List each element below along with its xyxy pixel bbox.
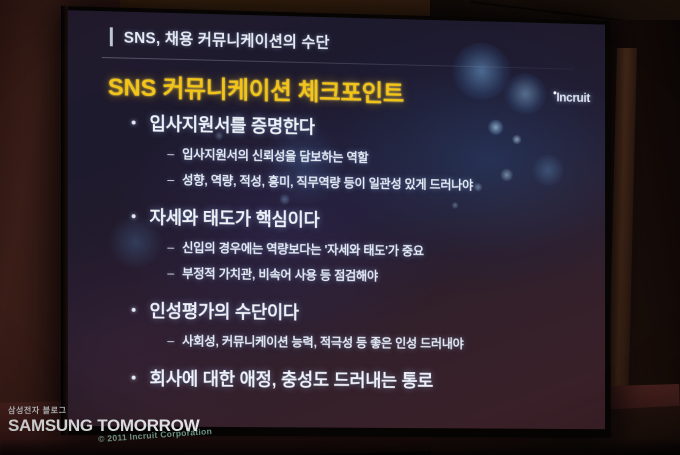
bullet-heading: 입사지원서를 증명한다 <box>68 108 605 145</box>
bullet-dot-icon <box>132 376 136 380</box>
slide-title: SNS 커뮤니케이션 체크포인트 <box>108 67 404 109</box>
bullet-dot-icon <box>132 308 136 312</box>
blog-watermark: 삼성전자 블로그 SAMSUNG TOMORROW <box>8 405 199 434</box>
incruit-logo: •Incruit <box>553 88 590 106</box>
bullet-dot-icon <box>132 121 136 125</box>
bullet-heading: 회사에 대한 애정, 충성도 드러내는 통로 <box>68 364 605 394</box>
bullet-block-4: 회사에 대한 애정, 충성도 드러내는 통로 <box>68 364 605 394</box>
bokeh-light-2 <box>504 73 546 115</box>
watermark-korean-text: 삼성전자 블로그 <box>8 405 199 416</box>
slide-header-text: SNS, 채용 커뮤니케이션의 수단 <box>124 26 330 53</box>
projection-screen-frame: SNS, 채용 커뮤니케이션의 수단 SNS 커뮤니케이션 체크포인트 •Inc… <box>61 6 611 438</box>
sub-bullet-text: 신입의 경우에는 역량보다는 '자세와 태도'가 중요 <box>182 237 424 259</box>
bullet-block-2: 자세와 태도가 핵심이다 – 신입의 경우에는 역량보다는 '자세와 태도'가 … <box>68 202 605 287</box>
bullet-block-1: 입사지원서를 증명한다 – 입사지원서의 신뢰성을 담보하는 역할 – 성향, … <box>68 108 605 196</box>
sub-bullet: – 신입의 경우에는 역량보다는 '자세와 태도'가 중요 <box>68 235 605 262</box>
sub-bullet: – 입사지원서의 신뢰성을 담보하는 역할 <box>68 141 605 170</box>
sub-bullet-dash-icon: – <box>167 334 174 348</box>
slide-body: 입사지원서를 증명한다 – 입사지원서의 신뢰성을 담보하는 역할 – 성향, … <box>68 108 605 394</box>
sub-bullet-text: 부정적 가치관, 비속어 사용 등 점검해야 <box>182 263 378 284</box>
bullet-heading-text: 입사지원서를 증명한다 <box>150 110 315 139</box>
bullet-heading-text: 자세와 태도가 핵심이다 <box>150 204 320 233</box>
watermark-english-text: SAMSUNG TOMORROW <box>8 417 199 434</box>
bokeh-light-1 <box>452 42 511 100</box>
presentation-slide: SNS, 채용 커뮤니케이션의 수단 SNS 커뮤니케이션 체크포인트 •Inc… <box>68 10 605 429</box>
slide-header: SNS, 채용 커뮤니케이션의 수단 <box>110 25 330 52</box>
sub-bullet-text: 입사지원서의 신뢰성을 담보하는 역할 <box>182 143 368 165</box>
bullet-block-3: 인성평가의 수단이다 – 사회성, 커뮤니케이션 능력, 적극성 등 좋은 인성… <box>68 296 605 353</box>
bullet-heading: 인성평가의 수단이다 <box>68 296 605 328</box>
logo-wordmark: Incruit <box>556 91 590 105</box>
sub-bullet-dash-icon: – <box>167 241 174 255</box>
header-accent-bar <box>110 27 113 46</box>
photograph-of-presentation-screen: SNS, 채용 커뮤니케이션의 수단 SNS 커뮤니케이션 체크포인트 •Inc… <box>0 0 680 455</box>
header-divider-line <box>102 57 574 70</box>
sub-bullet-dash-icon: – <box>167 173 174 187</box>
sub-bullet-dash-icon: – <box>167 266 174 280</box>
bullet-heading-text: 회사에 대한 애정, 충성도 드러내는 통로 <box>150 365 434 393</box>
sub-bullet-text: 사회성, 커뮤니케이션 능력, 적극성 등 좋은 인성 드러내야 <box>182 330 463 352</box>
sub-bullet-dash-icon: – <box>167 147 174 161</box>
bullet-heading-text: 인성평가의 수단이다 <box>150 297 299 325</box>
bullet-dot-icon <box>132 214 136 218</box>
